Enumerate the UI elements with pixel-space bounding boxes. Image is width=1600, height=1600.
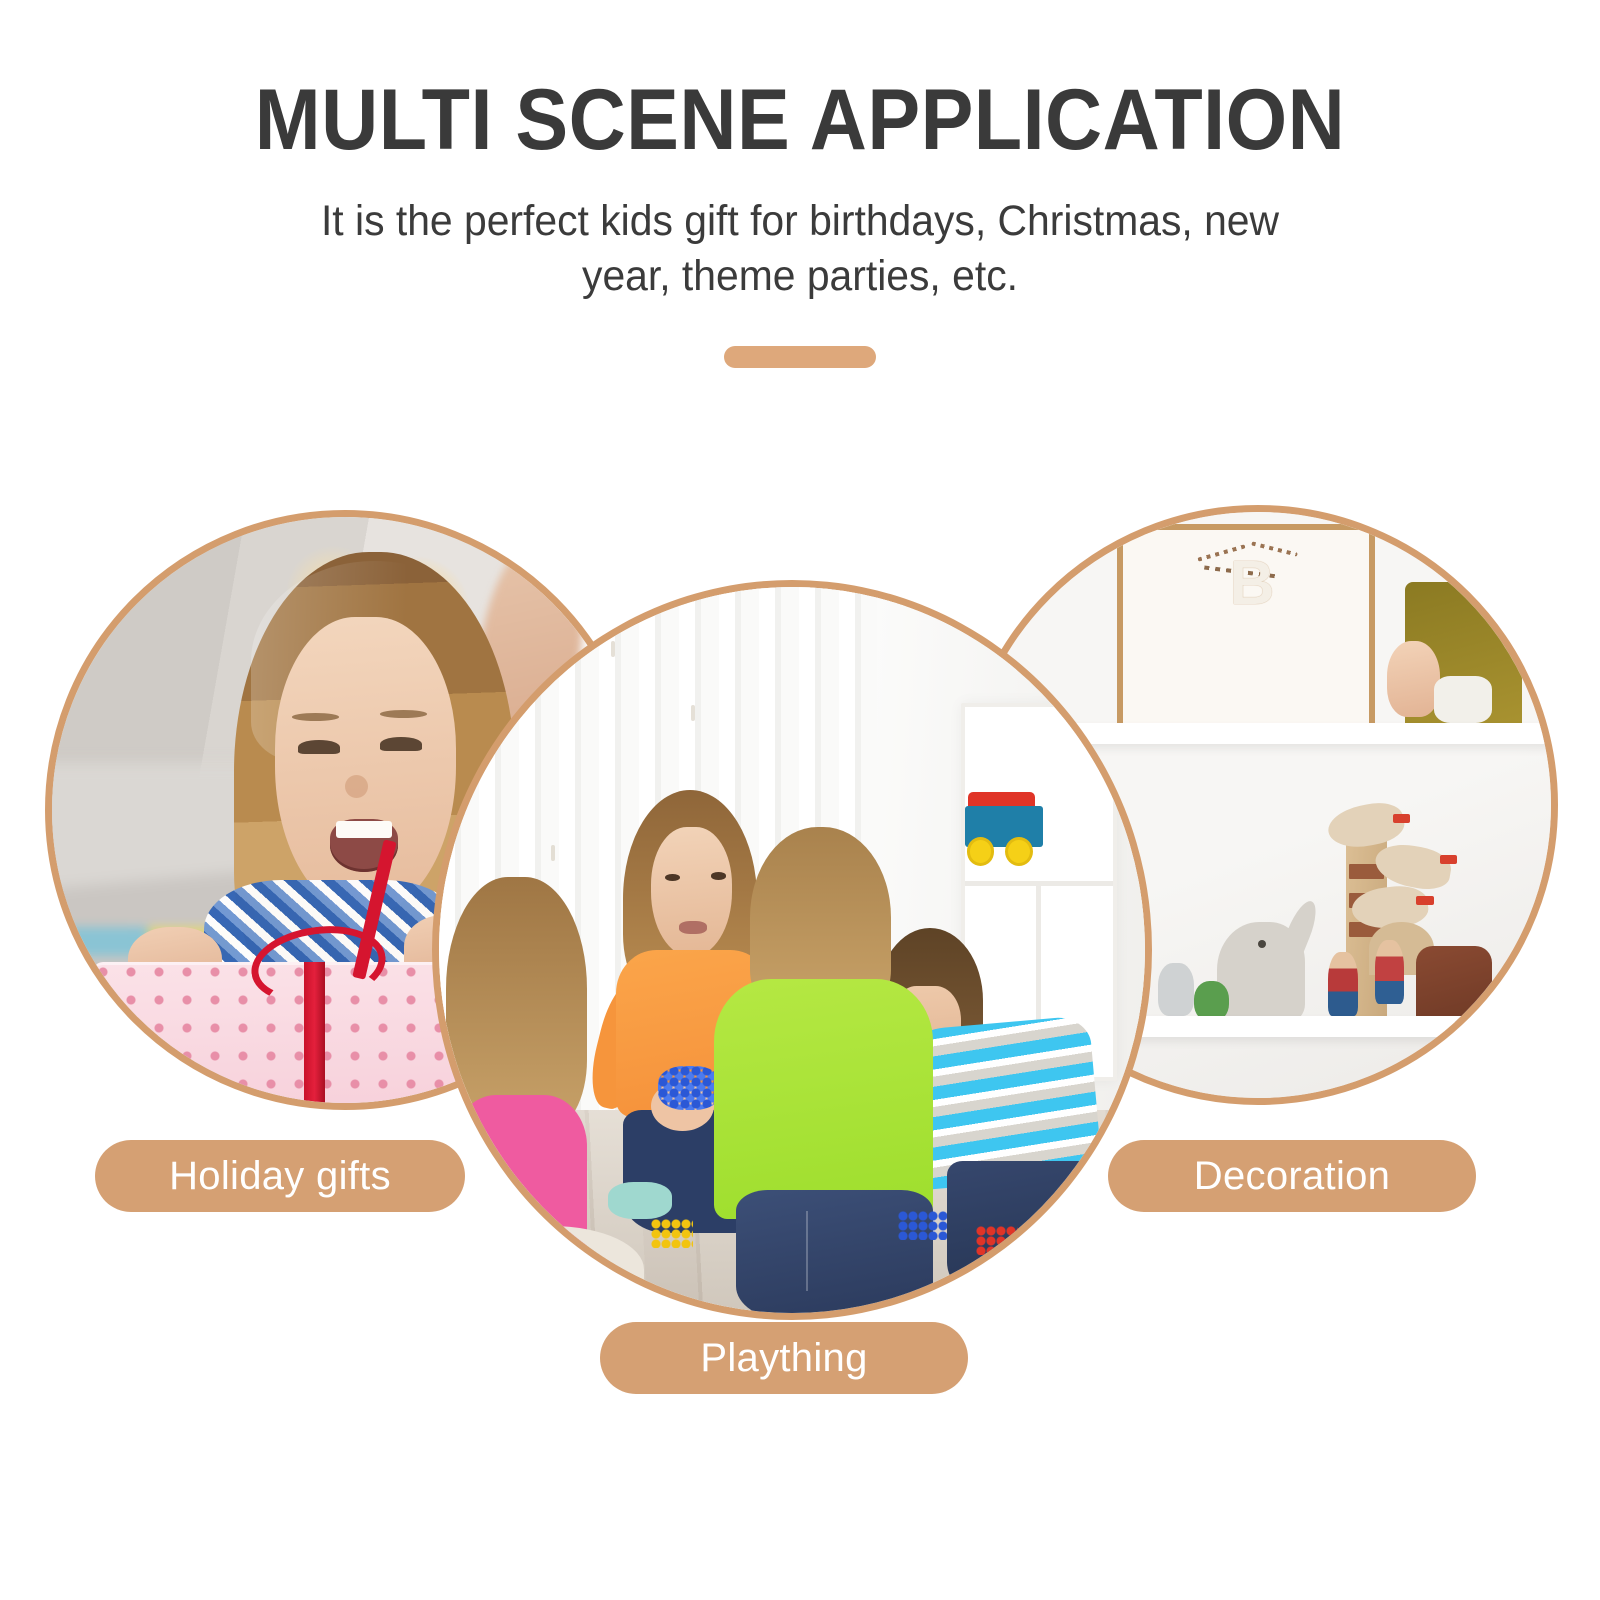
goose-beak-3	[1416, 896, 1434, 905]
girl-eye-left	[298, 740, 340, 754]
scene-image-plaything	[432, 580, 1152, 1320]
wooden-figurine-1	[1328, 952, 1357, 1016]
wooden-figurine-2	[1375, 940, 1404, 1004]
goose-beak-1	[1393, 814, 1411, 823]
train-wheel	[1005, 837, 1033, 866]
curtain-tick	[551, 845, 555, 861]
child-pink-hair	[446, 877, 587, 1131]
owl-figurine	[1158, 963, 1193, 1016]
yellow-floor-toys	[651, 1219, 693, 1248]
wooden-chair-toy	[1416, 946, 1492, 1022]
caption-plaything[interactable]: Plaything	[600, 1322, 968, 1394]
curtain-tick	[691, 705, 695, 721]
child-pink-legs	[460, 1226, 644, 1313]
caption-holiday-gifts[interactable]: Holiday gifts	[95, 1140, 465, 1212]
frame-letter: B	[1211, 553, 1293, 658]
jeans-seam	[806, 1211, 808, 1291]
caption-decoration[interactable]: Decoration	[1108, 1140, 1476, 1212]
blue-floor-toys	[898, 1211, 947, 1240]
curtain-tick	[523, 673, 527, 689]
child-lime-jeans	[736, 1190, 934, 1320]
child-orange-eye-right	[711, 872, 726, 879]
plaything-illustration	[439, 587, 1145, 1313]
girl-teeth	[336, 821, 392, 838]
doll-diaper	[1434, 676, 1493, 723]
red-floor-toys	[976, 1226, 1018, 1255]
doll-leg	[1387, 641, 1440, 717]
blue-bead-toys	[658, 1066, 722, 1110]
girl-eye-right	[380, 737, 422, 751]
train-wheel	[967, 837, 995, 866]
child-orange-mouth	[679, 921, 707, 934]
child-orange-shoe	[608, 1182, 672, 1218]
goose-beak-2	[1440, 855, 1458, 864]
child-lime-shirt	[714, 979, 933, 1219]
girl-eyebrow-left	[292, 713, 339, 721]
child-orange-eye-left	[665, 874, 680, 881]
child-orange-face	[651, 827, 732, 958]
child-striped-jeans	[947, 1161, 1102, 1299]
toy-train	[965, 790, 1043, 863]
girl-eyebrow-right	[380, 710, 427, 718]
curtain-tick	[611, 641, 615, 657]
